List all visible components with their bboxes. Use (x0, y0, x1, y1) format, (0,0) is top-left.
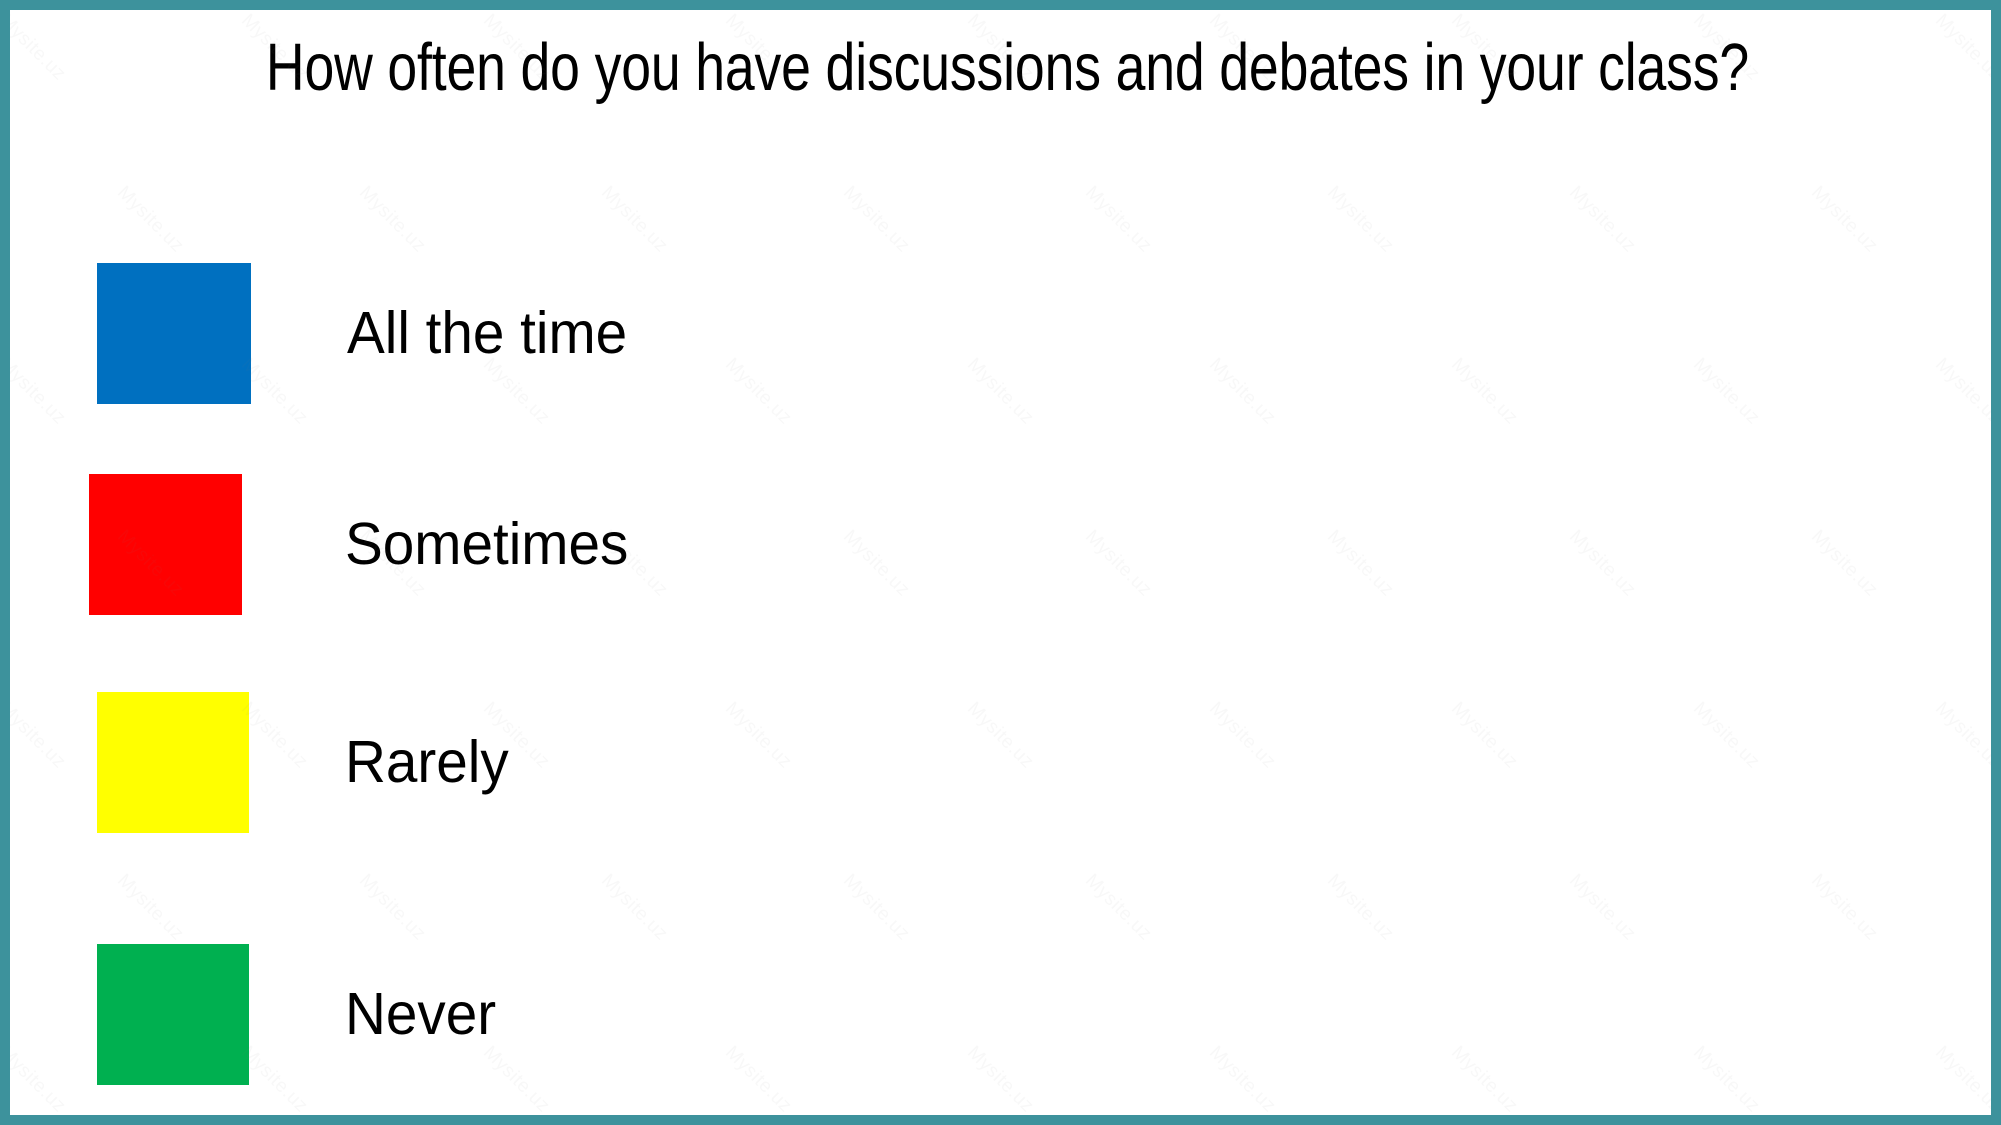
color-swatch-green (97, 944, 249, 1085)
legend-label-rarely: Rarely (345, 733, 509, 792)
legend-item-rarely[interactable]: Rarely (97, 692, 516, 833)
legend-label-all-the-time: All the time (347, 304, 627, 363)
color-swatch-red (89, 474, 242, 615)
slide-canvas: Mysite.uzMysite.uzMysite.uzMysite.uzMysi… (0, 0, 2001, 1125)
legend-label-never: Never (345, 985, 496, 1044)
legend-item-all-the-time[interactable]: All the time (97, 263, 639, 404)
legend-item-never[interactable]: Never (97, 944, 502, 1085)
color-swatch-yellow (97, 692, 249, 833)
legend: All the time Sometimes Rarely Never (10, 10, 1991, 1115)
color-swatch-blue (97, 263, 251, 404)
legend-item-sometimes[interactable]: Sometimes (89, 474, 640, 615)
legend-label-sometimes: Sometimes (345, 515, 628, 574)
